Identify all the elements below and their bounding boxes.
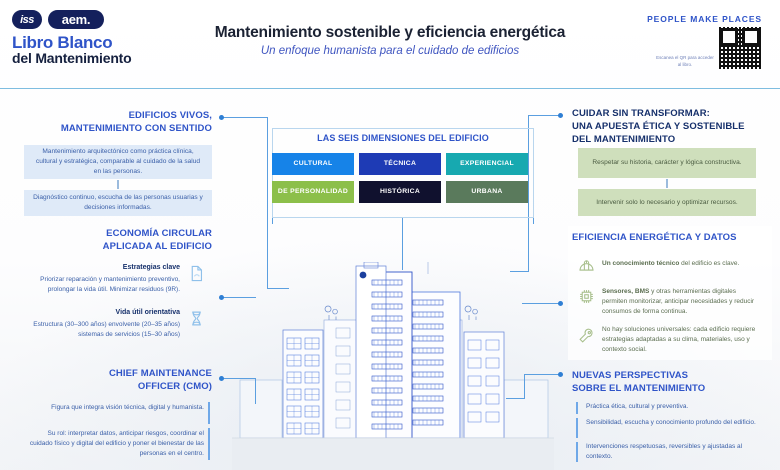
header: iss aem. Libro Blanco del Mantenimiento … bbox=[0, 0, 780, 88]
page-subtitle: Un enfoque humanista para el cuidado de … bbox=[170, 45, 610, 57]
left-section-1-heading-line1: EDIFICIOS VIVOS, bbox=[20, 110, 212, 123]
left-section-3-item-1: Figura que integra visión técnica, digit… bbox=[28, 403, 204, 413]
right-section-1-tick bbox=[666, 179, 668, 188]
dimensions-grid: CULTURAL TÉCNICA EXPERIENCIAL DE PERSONA… bbox=[272, 153, 528, 203]
right-section-3-item-3: Intervenciones respetuosas, reversibles … bbox=[586, 442, 758, 462]
left-section-3-accent-2 bbox=[208, 428, 210, 460]
page-title: Mantenimiento sostenible y eficiencia en… bbox=[170, 24, 610, 42]
connector-dot-right-2 bbox=[558, 301, 563, 306]
right-section-3-heading: NUEVAS PERSPECTIVAS SOBRE EL MANTENIMIEN… bbox=[572, 370, 772, 396]
connector-dot-left-2 bbox=[219, 295, 224, 300]
dimension-label: EXPERIENCIAL bbox=[460, 160, 514, 168]
left-section-1-box-1: Mantenimiento arquitectónico como prácti… bbox=[24, 145, 212, 179]
qr-code-icon[interactable] bbox=[718, 26, 762, 70]
left-section-2-item-2: Vida útil orientativa Estructura (30–300… bbox=[20, 308, 180, 340]
left-section-2-heading-line2: APLICADA AL EDIFICIO bbox=[20, 241, 212, 254]
connector-left-2 bbox=[222, 297, 256, 298]
connector-left-3 bbox=[222, 378, 256, 379]
dimension-tile-historica[interactable]: HISTÓRICA bbox=[359, 181, 441, 203]
panel-tick-left bbox=[272, 218, 273, 224]
panel-tick-center bbox=[402, 218, 403, 270]
iss-logo: iss bbox=[12, 10, 42, 29]
left-section-2-heading: ECONOMÍA CIRCULAR APLICADA AL EDIFICIO bbox=[20, 228, 212, 254]
connector-right-3-bottom bbox=[506, 398, 525, 399]
tagline: PEOPLE MAKE PLACES bbox=[647, 14, 762, 24]
hourglass-icon bbox=[188, 310, 205, 327]
left-section-2-item-1-title: Estrategias clave bbox=[20, 263, 180, 274]
connector-right-3-vert bbox=[524, 374, 525, 398]
right-section-1-heading-line3: DEL MANTENIMIENTO bbox=[572, 134, 772, 147]
right-section-3-accent-1 bbox=[576, 402, 578, 414]
left-section-1-tick bbox=[117, 180, 119, 189]
right-section-1-heading-line1: CUIDAR SIN TRANSFORMAR: bbox=[572, 108, 772, 121]
aem-logo: aem. bbox=[48, 10, 104, 29]
left-section-2-item-1-body: Priorizar reparación y mantenimiento pre… bbox=[40, 276, 180, 293]
panel-tick-right bbox=[533, 218, 534, 224]
left-section-3-heading-line2: OFFICER (CMO) bbox=[20, 381, 212, 394]
right-section-3-item-2: Sensibilidad, escucha y conocimiento pro… bbox=[586, 418, 758, 428]
right-section-1-heading: CUIDAR SIN TRANSFORMAR: UNA APUESTA ÉTIC… bbox=[572, 108, 772, 146]
right-section-2-item-1-text: del edificio es clave. bbox=[681, 260, 739, 267]
city-skyline-illustration bbox=[232, 262, 554, 470]
right-section-3-item-1: Práctica ética, cultural y preventiva. bbox=[586, 402, 758, 412]
dimension-tile-cultural[interactable]: CULTURAL bbox=[272, 153, 354, 175]
brand-title-line2: del Mantenimiento bbox=[12, 50, 132, 66]
right-section-3-heading-line2: SOBRE EL MANTENIMIENTO bbox=[572, 383, 772, 396]
connector-dot-left-3 bbox=[219, 376, 224, 381]
right-section-3-heading-line1: NUEVAS PERSPECTIVAS bbox=[572, 370, 772, 383]
dimension-tile-experiencial[interactable]: EXPERIENCIAL bbox=[446, 153, 528, 175]
left-section-1-heading-line2: MANTENIMIENTO CON SENTIDO bbox=[20, 123, 212, 136]
right-section-1-box-2: Intervenir solo lo necesario y optimizar… bbox=[578, 189, 756, 216]
left-section-3-heading-line1: CHIEF MAINTENANCE bbox=[20, 368, 212, 381]
infographic-page: iss aem. Libro Blanco del Mantenimiento … bbox=[0, 0, 780, 470]
left-section-3-heading: CHIEF MAINTENANCE OFFICER (CMO) bbox=[20, 368, 212, 394]
logo-group: iss aem. bbox=[12, 10, 104, 29]
connector-left-1-bottom bbox=[267, 288, 289, 289]
connector-left-1-vert bbox=[267, 117, 268, 289]
dimension-label: DE PERSONALIDAD bbox=[278, 188, 348, 196]
wrench-icon bbox=[578, 327, 595, 344]
right-section-2-item-2: Sensores, BMS y otras herramientas digit… bbox=[602, 287, 760, 317]
dimension-label: HISTÓRICA bbox=[380, 188, 420, 196]
dimension-tile-urbana[interactable]: URBANA bbox=[446, 181, 528, 203]
dimension-tile-tecnica[interactable]: TÉCNICA bbox=[359, 153, 441, 175]
hard-hat-icon bbox=[578, 258, 595, 275]
left-section-3-item-2: Su rol: interpretar datos, anticipar rie… bbox=[28, 429, 204, 459]
left-section-2-item-2-body: Estructura (30–300 años) envolvente (20–… bbox=[33, 321, 180, 338]
document-icon bbox=[188, 265, 205, 282]
left-section-2-item-2-title: Vida útil orientativa bbox=[20, 308, 180, 319]
right-section-3-accent-3 bbox=[576, 442, 578, 462]
dimension-label: URBANA bbox=[471, 188, 502, 196]
left-section-1-heading: EDIFICIOS VIVOS, MANTENIMIENTO CON SENTI… bbox=[20, 110, 212, 136]
right-section-2-item-2-bold: Sensores, BMS bbox=[602, 288, 649, 295]
right-section-3-accent-2 bbox=[576, 418, 578, 438]
connector-right-1 bbox=[528, 115, 562, 116]
right-section-1-box-1: Respetar su historia, carácter y lógica … bbox=[578, 148, 756, 178]
connector-left-3-vert bbox=[255, 378, 256, 404]
connector-right-1-bottom bbox=[510, 271, 529, 272]
connector-dot-right-3 bbox=[558, 372, 563, 377]
connector-right-2 bbox=[522, 303, 562, 304]
dimension-label: TÉCNICA bbox=[384, 160, 416, 168]
microchip-icon bbox=[578, 288, 595, 305]
right-section-2-item-1: Un conocimiento técnico del edificio es … bbox=[602, 259, 760, 269]
connector-right-3 bbox=[524, 374, 562, 375]
left-section-3-accent-1 bbox=[208, 402, 210, 424]
qr-caption: Escanea el QR para acceder al libro. bbox=[656, 55, 714, 69]
dimension-tile-de-personalidad[interactable]: DE PERSONALIDAD bbox=[272, 181, 354, 203]
left-section-2-item-1: Estrategias clave Priorizar reparación y… bbox=[20, 263, 180, 295]
left-section-1-box-2: Diagnóstico continuo, escucha de las per… bbox=[24, 190, 212, 216]
dimensions-title: LAS SEIS DIMENSIONES DEL EDIFICIO bbox=[272, 133, 534, 143]
right-section-2-item-3: No hay soluciones universales: cada edif… bbox=[602, 325, 760, 355]
connector-dot-left-1 bbox=[219, 115, 224, 120]
right-section-2-item-1-bold: Un conocimiento técnico bbox=[602, 260, 679, 267]
connector-left-1 bbox=[222, 117, 268, 118]
right-section-1-heading-line2: UNA APUESTA ÉTICA Y SOSTENIBLE bbox=[572, 121, 772, 134]
connector-dot-right-1 bbox=[558, 113, 563, 118]
header-divider bbox=[0, 88, 780, 89]
left-section-2-heading-line1: ECONOMÍA CIRCULAR bbox=[20, 228, 212, 241]
dimension-label: CULTURAL bbox=[294, 160, 333, 168]
right-section-2-heading: EFICIENCIA ENERGÉTICA Y DATOS bbox=[572, 232, 772, 245]
